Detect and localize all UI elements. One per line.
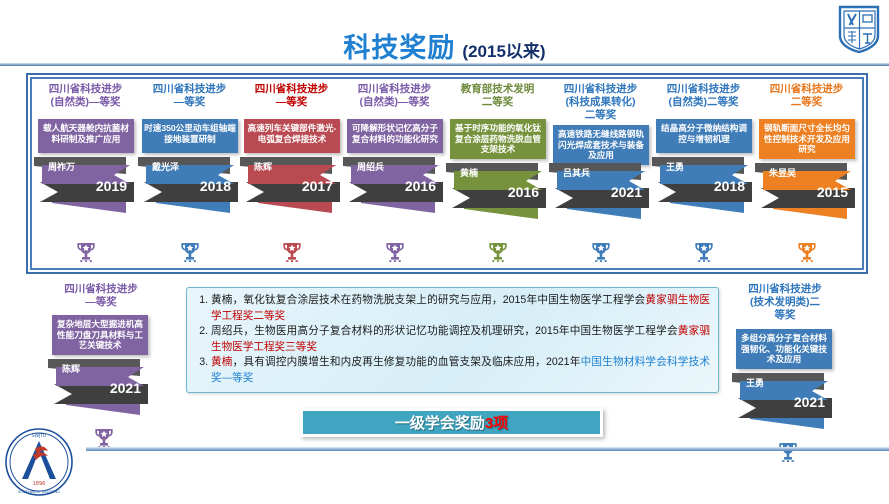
award-project-banner: 多组分高分子复合材料强韧化、功能化关键技术及应用 [736,329,832,369]
award-person: 黄楠 [460,166,478,179]
award-category-title: 四川省科技进步—等奖 [236,83,347,109]
award-year: 2018 [714,178,745,194]
award-person: 陈辉 [62,362,80,375]
trophy-icon [180,241,200,263]
page-header: 科技奖励(2015以来) [0,0,889,64]
award-person: 王勇 [666,160,684,173]
award-person: 朱昱吴 [769,166,796,179]
award-category-title: 四川省科技进步—等奖 [40,283,162,309]
award-project-banner: 钢轨断面尺寸全长均匀性控制技术开发及应用研究 [759,119,855,159]
footer-divider [86,447,889,451]
award-card: 四川省科技进步(自然类)—等奖可降解形状记忆高分子复合材料的功能化研究 周绍兵 … [343,75,446,272]
header-divider [0,63,889,66]
award-project-banner: 可降解形状记忆高分子复合材料的功能化研究 [347,119,443,153]
award-ribbon: 陈辉 2021 [48,359,151,411]
trophy-icon [385,241,405,263]
award-category-title: 四川省科技进步—等奖 [134,83,245,109]
award-person: 陈辉 [254,160,272,173]
award-project-banner: 基于时序功能的氧化钛复合涂层药物洗脱血管支架技术 [450,119,546,159]
award-year: 2016 [405,178,436,194]
award-year: 2021 [611,184,642,200]
page-title-main: 科技奖励 [343,33,455,63]
award-year: 2016 [508,184,539,200]
award-category-title: 教育部技术发明二等奖 [442,83,553,109]
award-person: 王勇 [746,376,764,389]
award-ribbon: 陈辉 2017 [240,157,343,209]
award-category-title: 四川省科技进步(技术发明类)二等奖 [724,283,846,322]
award-card: 教育部技术发明二等奖基于时序功能的氧化钛复合涂层药物洗脱血管支架技术 黄楠 20… [446,75,549,272]
award-card: 四川省科技进步—等奖时速350公里动车组轴端接地装置研制 戴光泽 2018 [138,75,241,272]
award-ribbon: 周祚万 2019 [34,157,137,209]
award-project-banner: 载人航天器舱内抗菌材料研制及推广应用 [38,119,134,153]
list-item: 黄楠，具有调控内膜增生和内皮再生修复功能的血管支架及临床应用，2021年中国生物… [211,355,710,386]
page-title-subtitle: (2015以来) [462,42,545,61]
award-category-title: 四川省科技进步二等奖 [751,83,862,109]
award-ribbon: 朱昱吴 2015 [755,163,858,215]
award-card: 四川省科技进步(科技成果转化)二等奖高速铁路无缝线路钢轨闪光焊成套技术与装备及应… [549,75,652,272]
award-person: 周祚万 [48,160,75,173]
award-year: 2017 [302,178,333,194]
award-year: 2015 [817,184,848,200]
trophy-icon [282,241,302,263]
award-project-banner: 时速350公里动车组轴端接地装置研制 [142,119,238,153]
award-category-title: 四川省科技进步(自然类)—等奖 [30,83,141,109]
award-ribbon: 戴光泽 2018 [138,157,241,209]
university-shield-icon [837,4,881,54]
society-award-list-items: 黄楠，氧化钛复合涂层技术在药物洗脱支架上的研究与应用，2015年中国生物医学工程… [193,293,710,386]
award-year: 2018 [200,178,231,194]
trophy-icon [694,241,714,263]
award-card: 四川省科技进步(自然类)—等奖载人航天器舱内抗菌材料研制及推广应用 周祚万 20… [34,75,137,272]
trophy-icon [76,241,96,263]
svg-text:1896: 1896 [33,481,46,487]
trophy-icon [488,241,508,263]
trophy-icon [778,441,798,463]
awards-panel: 四川省科技进步(自然类)—等奖载人航天器舱内抗菌材料研制及推广应用 周祚万 20… [26,73,868,274]
award-ribbon: 王勇 2021 [732,373,835,425]
list-item: 黄楠，氧化钛复合涂层技术在药物洗脱支架上的研究与应用，2015年中国生物医学工程… [211,293,710,324]
trophy-icon [591,241,611,263]
award-project-banner: 高速铁路无缝线路钢轨闪光焊成套技术与装备及应用 [553,125,649,165]
society-award-banner-text: 一级学会奖励3项 [395,412,508,433]
award-person: 吕其兵 [563,166,590,179]
award-card: 四川省科技进步—等奖高速列车关键部件激光-电弧复合焊接技术 陈辉 2017 [240,75,343,272]
society-award-banner: 一级学会奖励3项 [300,408,603,437]
award-ribbon: 王勇 2018 [652,157,755,209]
swjtu-logo-icon: 1896 SWJTU SOUTHWEST JIAOTONG [2,425,76,499]
award-category-title: 四川省科技进步(科技成果转化)二等奖 [545,83,656,122]
society-award-list: 黄楠，氧化钛复合涂层技术在药物洗脱支架上的研究与应用，2015年中国生物医学工程… [186,287,719,393]
list-item: 周绍兵，生物医用高分子复合材料的形状记忆功能调控及机理研究，2015年中国生物医… [211,324,710,355]
award-ribbon: 周绍兵 2016 [343,157,446,209]
award-ribbon: 吕其兵 2021 [549,163,652,215]
award-year: 2021 [110,380,141,396]
award-card: 四川省科技进步(自然类)二等奖结晶高分子微纳结构调控与增韧机理 王勇 2018 [652,75,755,272]
award-person: 戴光泽 [152,160,179,173]
award-project-banner: 高速列车关键部件激光-电弧复合焊接技术 [244,119,340,153]
award-ribbon: 黄楠 2016 [446,163,549,215]
page-title: 科技奖励(2015以来) [0,26,889,65]
trophy-icon [797,241,817,263]
award-year: 2021 [794,394,825,410]
award-year: 2019 [96,178,127,194]
award-project-banner: 结晶高分子微纳结构调控与增韧机理 [656,119,752,153]
award-card: 四川省科技进步二等奖钢轨断面尺寸全长均匀性控制技术开发及应用研究 朱昱吴 201… [755,75,858,272]
trophy-icon [94,427,114,449]
award-category-title: 四川省科技进步(自然类)—等奖 [339,83,450,109]
award-project-banner: 复杂地层大型掘进机高性能刀盘刀具材料与工艺关键技术 [52,315,148,355]
svg-text:SOUTHWEST JIAOTONG: SOUTHWEST JIAOTONG [18,490,60,494]
award-category-title: 四川省科技进步(自然类)二等奖 [648,83,759,109]
svg-text:SWJTU: SWJTU [32,433,46,439]
award-person: 周绍兵 [357,160,384,173]
